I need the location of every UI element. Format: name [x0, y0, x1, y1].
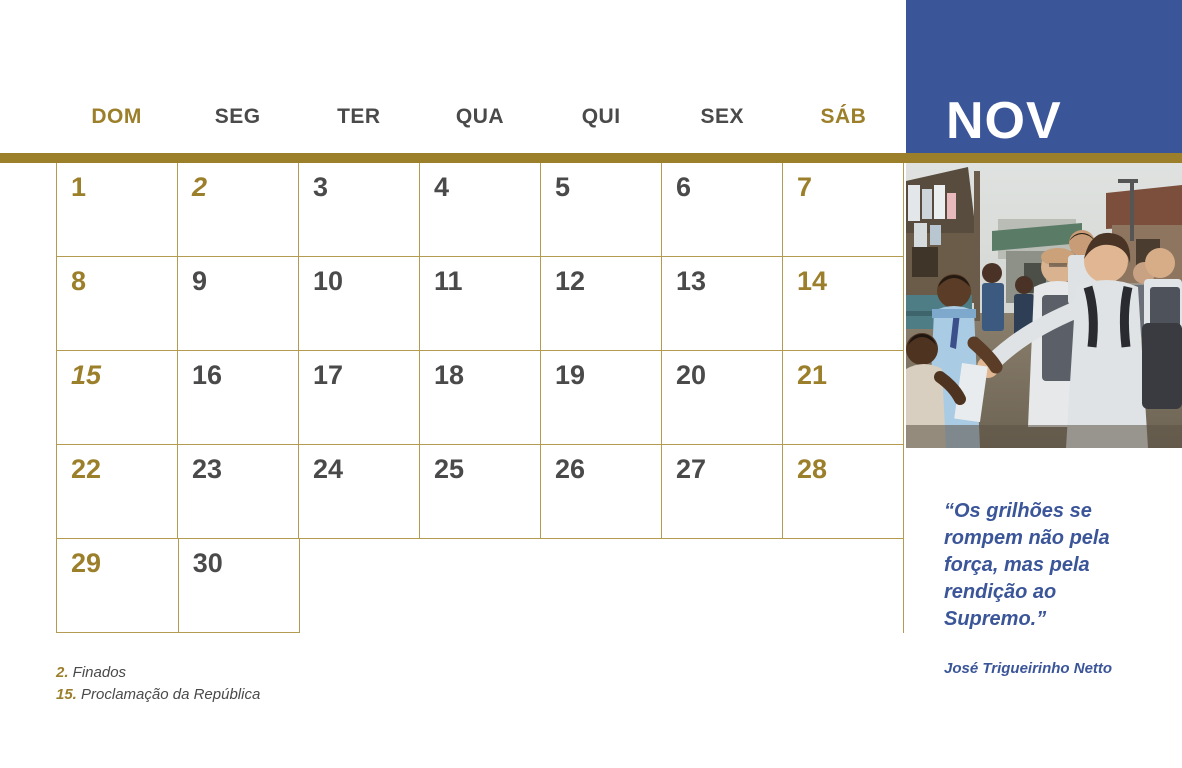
- day-number: 29: [71, 548, 101, 579]
- day-cell[interactable]: 13: [662, 257, 783, 351]
- day-number: 14: [797, 266, 827, 297]
- weekday-header-4: QUI: [541, 105, 662, 145]
- day-number: 26: [555, 454, 585, 485]
- day-number: 23: [192, 454, 222, 485]
- day-number: 30: [193, 548, 223, 579]
- photo-illustration: [906, 163, 1182, 448]
- day-number: 8: [71, 266, 86, 297]
- day-cell[interactable]: 22: [56, 445, 178, 539]
- day-cell-empty: [783, 539, 904, 633]
- day-number: 27: [676, 454, 706, 485]
- day-number: 19: [555, 360, 585, 391]
- day-cell[interactable]: 11: [420, 257, 541, 351]
- day-cell[interactable]: 12: [541, 257, 662, 351]
- day-cell-empty: [542, 539, 663, 633]
- photo-volunteers-greeting-children: [906, 163, 1182, 448]
- day-number: 15: [71, 360, 101, 391]
- day-cell[interactable]: 23: [178, 445, 299, 539]
- footnote-day-number: 2.: [56, 664, 69, 681]
- day-number: 11: [434, 266, 463, 297]
- day-number: 1: [71, 172, 86, 203]
- weekday-header-6: SÁB: [783, 105, 904, 145]
- weekday-header-row: DOMSEGTERQUAQUISEXSÁB: [56, 105, 904, 145]
- day-number: 10: [313, 266, 343, 297]
- day-cell[interactable]: 19: [541, 351, 662, 445]
- footnote-item: 15. Proclamação da República: [56, 684, 656, 706]
- day-cell[interactable]: 17: [299, 351, 420, 445]
- day-cell[interactable]: 16: [178, 351, 299, 445]
- day-number: 17: [313, 360, 343, 391]
- day-number: 16: [192, 360, 222, 391]
- day-cell[interactable]: 29: [56, 539, 179, 633]
- footnote-day-number: 15.: [56, 686, 77, 703]
- day-cell[interactable]: 15: [56, 351, 178, 445]
- day-number: 25: [434, 454, 464, 485]
- day-number: 12: [555, 266, 585, 297]
- day-number: 3: [313, 172, 328, 203]
- day-cell[interactable]: 26: [541, 445, 662, 539]
- day-cell[interactable]: 25: [420, 445, 541, 539]
- day-cell[interactable]: 10: [299, 257, 420, 351]
- weekday-header-1: SEG: [177, 105, 298, 145]
- day-cell-empty: [421, 539, 542, 633]
- day-number: 4: [434, 172, 449, 203]
- day-cell-empty: [300, 539, 421, 633]
- day-cell[interactable]: 14: [783, 257, 904, 351]
- day-number: 6: [676, 172, 691, 203]
- week-row: 2930: [56, 539, 904, 633]
- week-row: 15161718192021: [56, 351, 904, 445]
- day-cell[interactable]: 30: [179, 539, 301, 633]
- week-row: 1234567: [56, 163, 904, 257]
- quote-panel: “Os grilhões se rompem não pela força, m…: [906, 448, 1182, 768]
- day-cell[interactable]: 2: [178, 163, 299, 257]
- day-cell[interactable]: 5: [541, 163, 662, 257]
- day-cell[interactable]: 27: [662, 445, 783, 539]
- day-cell-empty: [663, 539, 784, 633]
- day-cell[interactable]: 18: [420, 351, 541, 445]
- calendar-grid: 1234567891011121314151617181920212223242…: [56, 163, 904, 633]
- day-cell[interactable]: 3: [299, 163, 420, 257]
- month-label: NOV: [946, 95, 1062, 147]
- quote-text: “Os grilhões se rompem não pela força, m…: [944, 498, 1159, 633]
- week-row: 891011121314: [56, 257, 904, 351]
- day-cell[interactable]: 24: [299, 445, 420, 539]
- footnote-label: Proclamação da República: [77, 686, 260, 703]
- day-cell[interactable]: 6: [662, 163, 783, 257]
- day-cell[interactable]: 21: [783, 351, 904, 445]
- day-number: 9: [192, 266, 207, 297]
- day-number: 18: [434, 360, 464, 391]
- week-row: 22232425262728: [56, 445, 904, 539]
- day-cell[interactable]: 8: [56, 257, 178, 351]
- grid-right-edge: [903, 445, 904, 633]
- day-number: 20: [676, 360, 706, 391]
- weekday-header-3: QUA: [419, 105, 540, 145]
- day-cell[interactable]: 9: [178, 257, 299, 351]
- quote-author: José Trigueirinho Netto: [944, 660, 1174, 677]
- weekday-header-5: SEX: [662, 105, 783, 145]
- day-number: 13: [676, 266, 706, 297]
- day-number: 21: [797, 360, 827, 391]
- day-number: 24: [313, 454, 343, 485]
- footnotes-list: 2. Finados15. Proclamação da República: [56, 662, 656, 706]
- day-cell[interactable]: 4: [420, 163, 541, 257]
- weekday-header-0: DOM: [56, 105, 177, 145]
- day-cell[interactable]: 28: [783, 445, 904, 539]
- day-cell[interactable]: 7: [783, 163, 904, 257]
- weekday-header-2: TER: [298, 105, 419, 145]
- day-number: 5: [555, 172, 570, 203]
- day-number: 2: [192, 172, 207, 203]
- gold-divider-bar: [0, 153, 1182, 163]
- day-number: 22: [71, 454, 101, 485]
- day-cell[interactable]: 20: [662, 351, 783, 445]
- day-cell[interactable]: 1: [56, 163, 178, 257]
- day-number: 28: [797, 454, 827, 485]
- footnote-label: Finados: [69, 664, 127, 681]
- month-panel: NOV: [906, 0, 1182, 153]
- day-number: 7: [797, 172, 812, 203]
- footnote-item: 2. Finados: [56, 662, 656, 684]
